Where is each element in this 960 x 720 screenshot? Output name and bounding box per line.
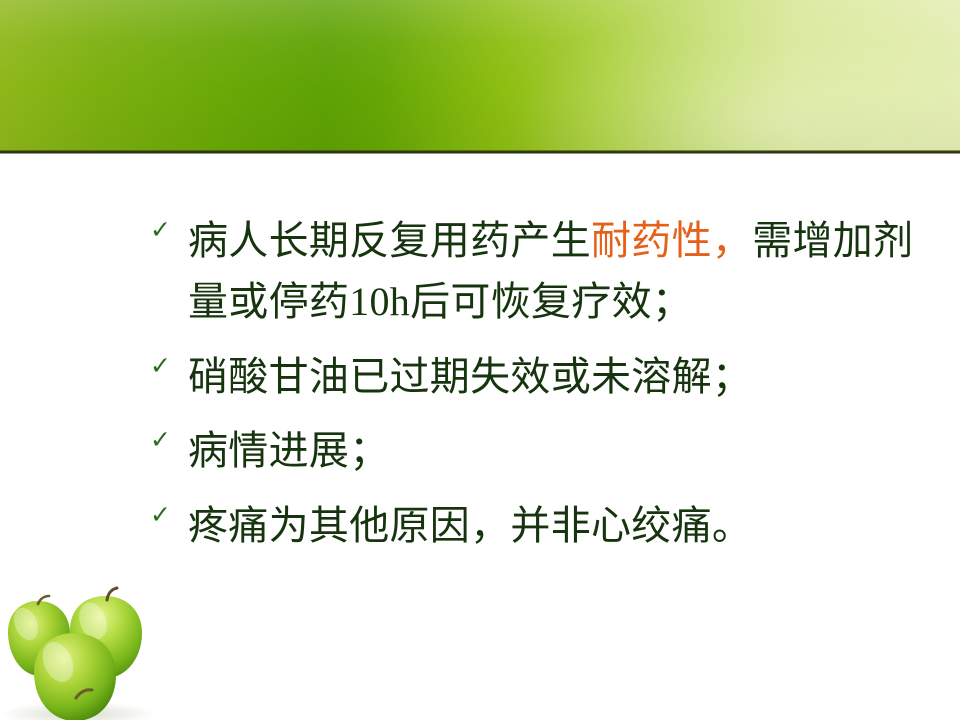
checkmark-icon: ✓	[150, 427, 176, 452]
apple-back-left	[8, 596, 70, 676]
header-glow-overlay	[0, 0, 960, 152]
bullet-text-3: 病情进展；	[188, 428, 390, 473]
apple-back-right	[70, 588, 142, 678]
checkmark-icon: ✓	[150, 217, 176, 242]
slide-body: ✓ 病人长期反复用药产生耐药性，需增加剂量或停药10h后可恢复疗效； ✓ 硝酸甘…	[0, 154, 960, 720]
bullet-item-1: ✓ 病人长期反复用药产生耐药性，需增加剂量或停药10h后可恢复疗效；	[150, 211, 940, 333]
checkmark-icon: ✓	[150, 502, 176, 527]
bullet-item-4: ✓ 疼痛为其他原因，并非心绞痛。	[150, 496, 940, 557]
slide-header-band	[0, 0, 960, 152]
apple-front-center	[34, 633, 116, 720]
apple-stem	[76, 690, 92, 698]
presentation-slide: ✓ 病人长期反复用药产生耐药性，需增加剂量或停药10h后可恢复疗效； ✓ 硝酸甘…	[0, 0, 960, 720]
bullet-list: ✓ 病人长期反复用药产生耐药性，需增加剂量或停药10h后可恢复疗效； ✓ 硝酸甘…	[150, 211, 940, 557]
green-apples-image	[0, 568, 196, 720]
bullet-text-1: 病人长期反复用药产生耐药性，需增加剂量或停药10h后可恢复疗效；	[188, 218, 913, 324]
apple-stem	[38, 596, 49, 604]
bullet-text-4: 疼痛为其他原因，并非心绞痛。	[188, 503, 752, 548]
checkmark-icon: ✓	[150, 353, 176, 378]
bullet-1-highlight: 耐药性，	[591, 218, 752, 263]
bullet-item-3: ✓ 病情进展；	[150, 421, 940, 482]
bullet-text-2: 硝酸甘油已过期失效或未溶解；	[188, 354, 752, 399]
bullet-1-segment-1: 病人长期反复用药产生	[188, 218, 591, 263]
bullet-item-2: ✓ 硝酸甘油已过期失效或未溶解；	[150, 347, 940, 408]
apple-shadow	[0, 702, 156, 720]
apple-stem	[107, 588, 117, 600]
